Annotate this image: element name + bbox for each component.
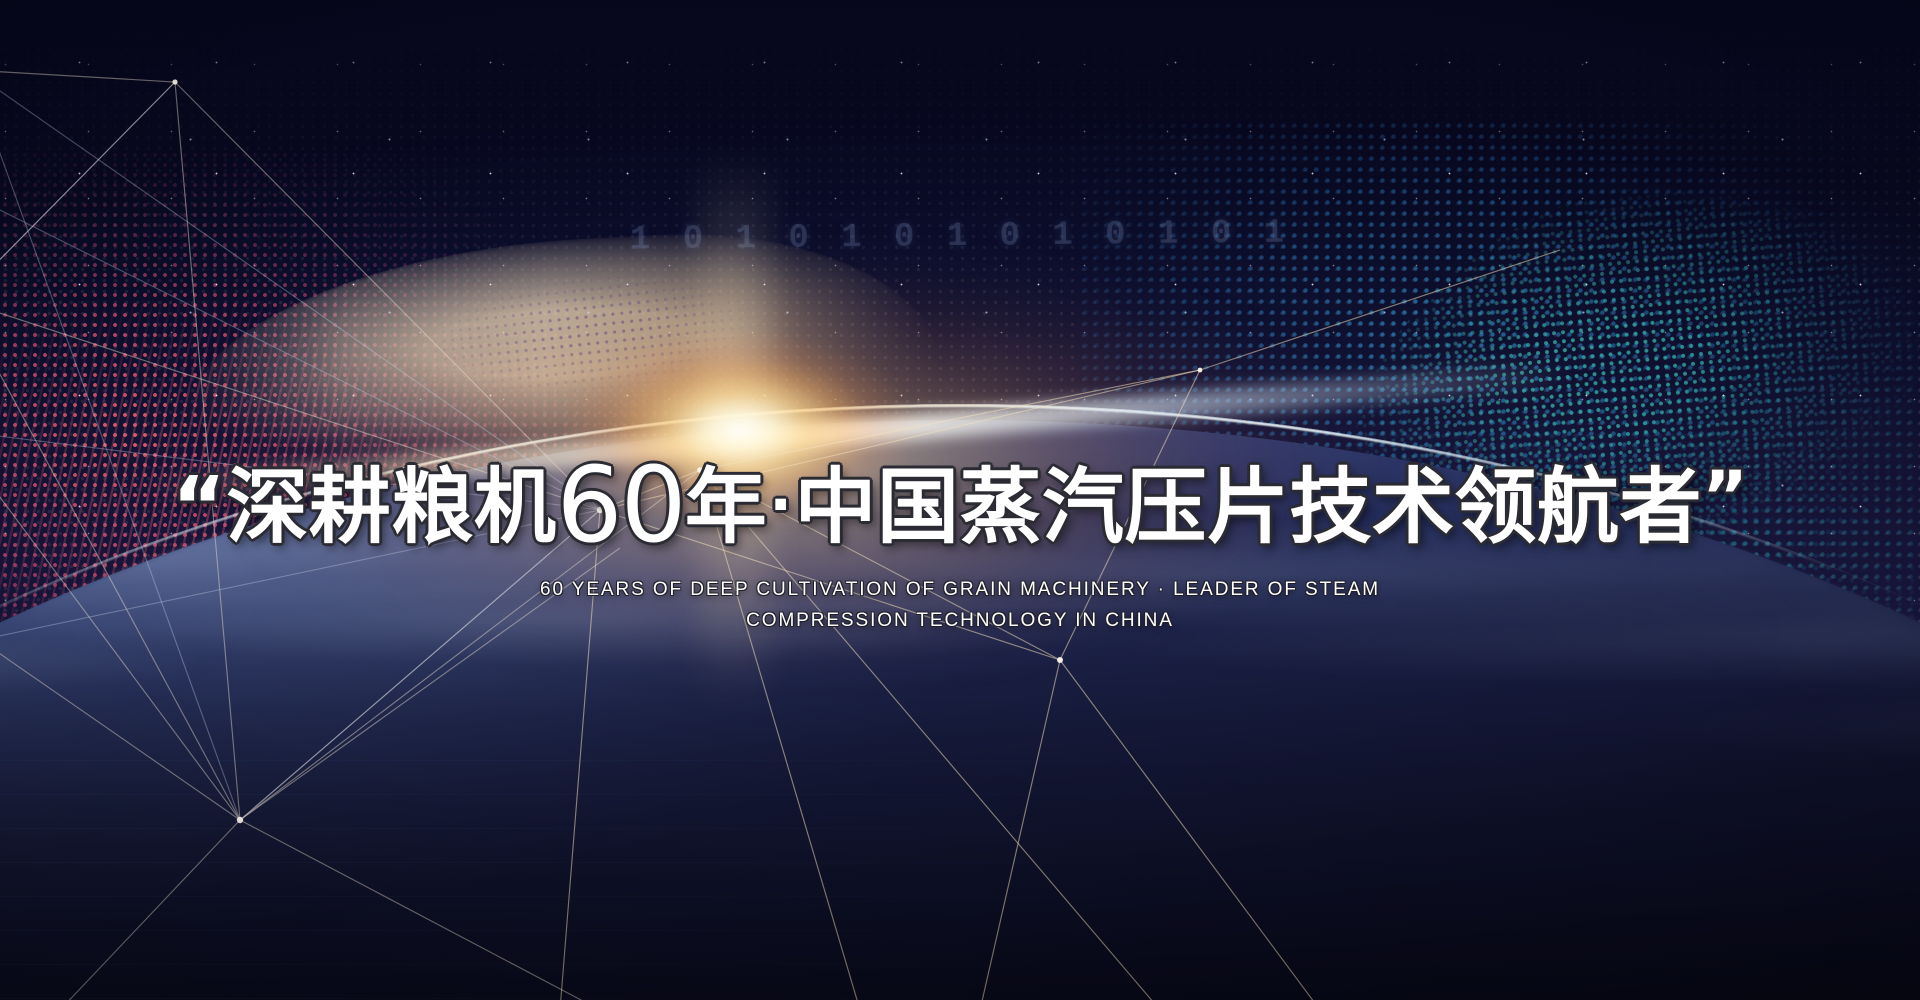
- headline-part-3: 中国蒸汽压片技术领航者: [795, 460, 1703, 555]
- binary-code-stream: 1 0 1 0 1 0 1 0 1 0 1 0 1: [0, 204, 1920, 270]
- banner-copy-block: “深耕粮机60年·中国蒸汽压片技术领航者” 60 YEARS OF DEEP C…: [0, 452, 1920, 636]
- subtitle-line-2: COMPRESSION TECHNOLOGY IN CHINA: [460, 605, 1460, 636]
- headline-separator-dot: ·: [769, 470, 792, 540]
- headline-open-quote: “: [172, 460, 226, 555]
- page-title: “深耕粮机60年·中国蒸汽压片技术领航者”: [0, 452, 1920, 558]
- headline-close-quote: ”: [1702, 456, 1748, 538]
- surface-scanline-texture: [0, 760, 1920, 1000]
- subtitle-block: 60 YEARS OF DEEP CULTIVATION OF GRAIN MA…: [460, 574, 1460, 636]
- hero-banner: 1 0 1 0 1 0 1 0 1 0 1 0 1: [0, 0, 1920, 1000]
- headline-part-1: 深耕粮机: [226, 460, 556, 555]
- headline-part-2: 年: [685, 460, 768, 555]
- wave-crest-dot-texture: [423, 236, 817, 425]
- subtitle-line-1: 60 YEARS OF DEEP CULTIVATION OF GRAIN MA…: [460, 574, 1460, 605]
- headline-number-60: 60: [556, 444, 684, 566]
